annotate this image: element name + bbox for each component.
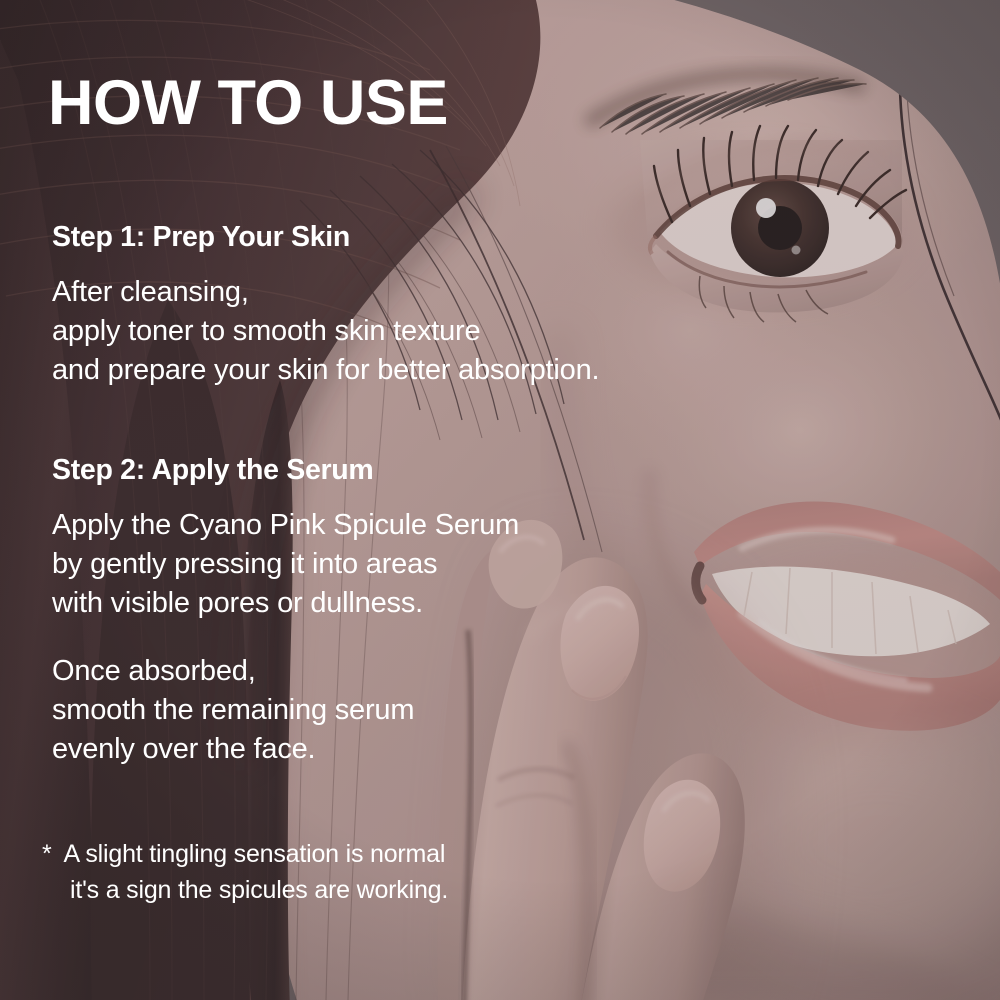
how-to-use-poster: HOW TO USE Step 1: Prep Your Skin After … — [0, 0, 1000, 1000]
step-1-paragraph-1: After cleansing, apply toner to smooth s… — [52, 273, 599, 390]
footnote-line-2: it's a sign the spicules are working. — [42, 872, 448, 908]
text-overlay: HOW TO USE Step 1: Prep Your Skin After … — [0, 0, 1000, 1000]
footnote-line-1: A slight tingling sensation is normal — [64, 840, 446, 868]
step-2-block: Step 2: Apply the Serum Apply the Cyano … — [52, 453, 519, 769]
step-2-p1-line-3: with visible pores or dullness. — [52, 587, 423, 619]
step-2-paragraph-2: Once absorbed, smooth the remaining seru… — [52, 652, 519, 769]
footnote: *A slight tingling sensation is normal i… — [42, 836, 448, 908]
step-1-line-2: apply toner to smooth skin texture — [52, 315, 480, 347]
step-1-line-1: After cleansing, — [52, 276, 249, 308]
step-1-heading: Step 1: Prep Your Skin — [52, 220, 599, 254]
step-2-heading: Step 2: Apply the Serum — [52, 453, 519, 487]
step-2-p2-line-1: Once absorbed, — [52, 655, 256, 687]
step-2-p1-line-2: by gently pressing it into areas — [52, 548, 437, 580]
step-1-line-3: and prepare your skin for better absorpt… — [52, 354, 599, 386]
step-2-paragraph-1: Apply the Cyano Pink Spicule Serum by ge… — [52, 506, 519, 623]
footnote-marker: * — [42, 840, 52, 868]
step-2-p2-line-2: smooth the remaining serum — [52, 694, 414, 726]
step-1-block: Step 1: Prep Your Skin After cleansing, … — [52, 220, 599, 390]
page-title: HOW TO USE — [48, 72, 448, 135]
step-2-p2-line-3: evenly over the face. — [52, 733, 315, 765]
step-2-p1-line-1: Apply the Cyano Pink Spicule Serum — [52, 509, 519, 541]
